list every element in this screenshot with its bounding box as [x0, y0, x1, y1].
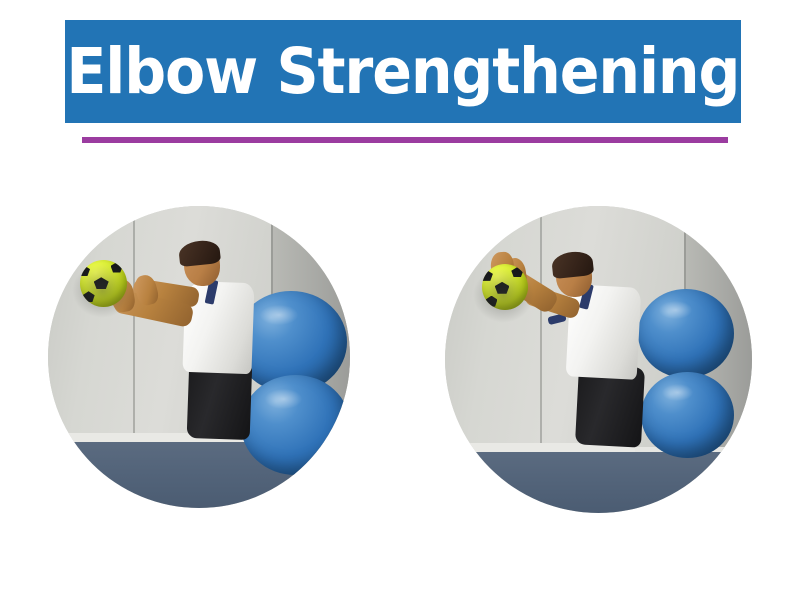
exercise-ball-upper	[638, 289, 733, 378]
ball-wall-shadow	[72, 263, 132, 317]
title-banner: Elbow Strengthening	[65, 20, 741, 123]
page-title: Elbow Strengthening	[67, 40, 740, 103]
exercise-scene-start	[48, 206, 350, 508]
figure-right-photo	[445, 206, 752, 513]
purple-divider-line	[82, 137, 728, 143]
torso-shirt	[565, 284, 640, 380]
exercise-ball-lower	[241, 375, 350, 475]
floor-surface	[445, 452, 752, 513]
exercise-scene-end	[445, 206, 752, 513]
figure-left-photo	[48, 206, 350, 508]
ball-wall-shadow	[473, 267, 534, 322]
